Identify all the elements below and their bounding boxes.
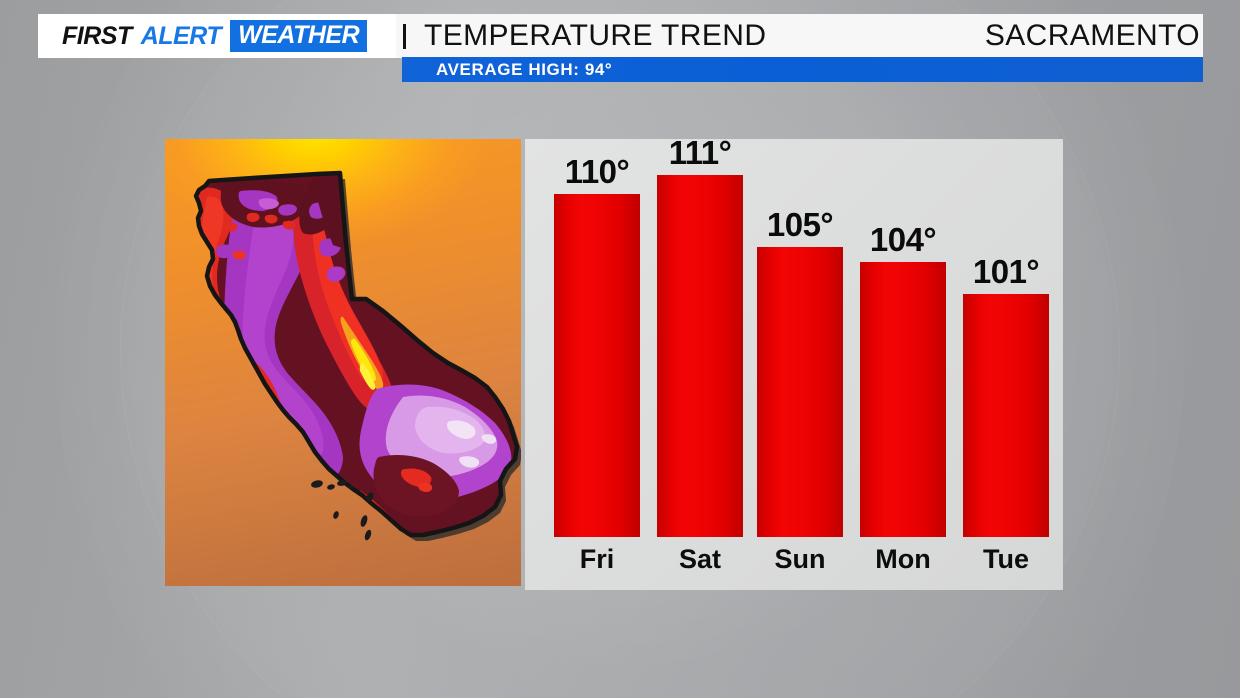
bar-label-sun: Sun (775, 544, 826, 575)
bars-area: 110° Fri 111° Sat 105° Sun 104° Mon 101° (525, 139, 1063, 590)
bar-group-fri: 110° Fri (554, 194, 640, 537)
bar-label-mon: Mon (875, 544, 930, 575)
bar-rect-tue (963, 294, 1049, 537)
page-title: TEMPERATURE TREND (403, 14, 766, 58)
logo-word-first: FIRST (62, 24, 132, 49)
temperature-trend-chart-panel: 110° Fri 111° Sat 105° Sun 104° Mon 101° (525, 139, 1063, 590)
logo-word-alert: ALERT (141, 24, 221, 49)
page-title-text: TEMPERATURE TREND (424, 19, 766, 53)
california-heat-map-panel (165, 139, 521, 586)
title-divider-icon (403, 24, 406, 49)
bar-value-sun: 105° (767, 206, 833, 244)
average-high-text: AVERAGE HIGH: 94° (436, 60, 612, 80)
bar-value-sat: 111° (669, 134, 732, 172)
bar-value-tue: 101° (973, 253, 1039, 291)
weather-graphic-screen: FIRST ALERT WEATHER TEMPERATURE TREND SA… (0, 0, 1240, 698)
average-high-bar: AVERAGE HIGH: 94° (402, 57, 1203, 82)
bar-label-tue: Tue (983, 544, 1029, 575)
logo-text: FIRST ALERT WEATHER (62, 20, 367, 52)
logo-word-weather: WEATHER (230, 20, 367, 52)
bar-group-sun: 105° Sun (757, 247, 843, 537)
bar-label-sat: Sat (679, 544, 721, 575)
bar-group-tue: 101° Tue (963, 294, 1049, 537)
city-label: SACRAMENTO (985, 14, 1200, 58)
bar-rect-mon (860, 262, 946, 537)
bar-rect-fri (554, 194, 640, 537)
california-map-icon (165, 139, 521, 586)
bar-group-sat: 111° Sat (657, 175, 743, 537)
bar-label-fri: Fri (580, 544, 615, 575)
bar-rect-sat (657, 175, 743, 537)
bar-value-fri: 110° (565, 153, 629, 191)
city-label-text: SACRAMENTO (985, 19, 1200, 53)
bar-rect-sun (757, 247, 843, 537)
bar-value-mon: 104° (870, 221, 936, 259)
bar-group-mon: 104° Mon (860, 262, 946, 537)
first-alert-weather-logo: FIRST ALERT WEATHER (38, 14, 396, 58)
